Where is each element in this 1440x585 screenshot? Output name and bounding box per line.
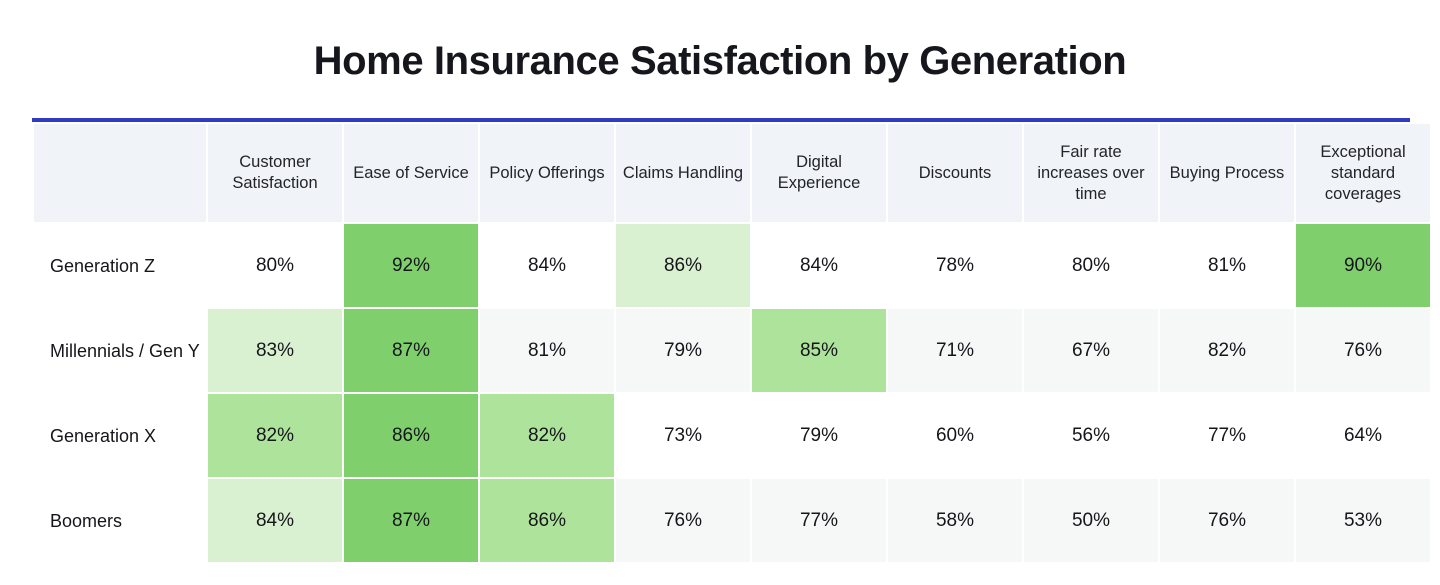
column-header-buying-process: Buying Process [1160,124,1294,222]
cell-boomers-ease-of-service: 87% [344,479,478,562]
cell-genz-discounts: 78% [888,224,1022,307]
cell-genz-policy-offerings: 84% [480,224,614,307]
cell-millennials-buying-process: 82% [1160,309,1294,392]
column-header-ease-of-service: Ease of Service [344,124,478,222]
cell-genz-digital-experience: 84% [752,224,886,307]
cell-boomers-discounts: 58% [888,479,1022,562]
cell-millennials-discounts: 71% [888,309,1022,392]
column-header-exceptional-standard-coverages: Exceptional standard coverages [1296,124,1430,222]
cell-genz-fair-rate-increases: 80% [1024,224,1158,307]
table-row: Generation X 82% 86% 82% 73% 79% 60% 56%… [34,394,1430,477]
cell-millennials-policy-offerings: 81% [480,309,614,392]
chart-page: Home Insurance Satisfaction by Generatio… [0,0,1440,585]
cell-boomers-customer-satisfaction: 84% [208,479,342,562]
row-label-millennials-gen-y: Millennials / Gen Y [34,309,206,392]
satisfaction-heatmap-table: Customer Satisfaction Ease of Service Po… [32,122,1432,564]
column-header-customer-satisfaction: Customer Satisfaction [208,124,342,222]
row-label-boomers: Boomers [34,479,206,562]
cell-genx-exceptional-standard-coverages: 64% [1296,394,1430,477]
cell-genx-fair-rate-increases: 56% [1024,394,1158,477]
cell-genz-customer-satisfaction: 80% [208,224,342,307]
heatmap-table-wrapper: Customer Satisfaction Ease of Service Po… [32,118,1410,564]
cell-boomers-buying-process: 76% [1160,479,1294,562]
cell-genz-buying-process: 81% [1160,224,1294,307]
cell-millennials-exceptional-standard-coverages: 76% [1296,309,1430,392]
row-label-generation-z: Generation Z [34,224,206,307]
column-header-discounts: Discounts [888,124,1022,222]
cell-genx-discounts: 60% [888,394,1022,477]
table-row: Boomers 84% 87% 86% 76% 77% 58% 50% 76% … [34,479,1430,562]
cell-millennials-digital-experience: 85% [752,309,886,392]
page-title: Home Insurance Satisfaction by Generatio… [0,36,1440,86]
cell-genz-exceptional-standard-coverages: 90% [1296,224,1430,307]
cell-genz-claims-handling: 86% [616,224,750,307]
table-row: Generation Z 80% 92% 84% 86% 84% 78% 80%… [34,224,1430,307]
cell-millennials-ease-of-service: 87% [344,309,478,392]
table-row: Millennials / Gen Y 83% 87% 81% 79% 85% … [34,309,1430,392]
cell-genx-customer-satisfaction: 82% [208,394,342,477]
cell-boomers-policy-offerings: 86% [480,479,614,562]
cell-boomers-fair-rate-increases: 50% [1024,479,1158,562]
cell-genx-ease-of-service: 86% [344,394,478,477]
cell-genx-claims-handling: 73% [616,394,750,477]
row-label-generation-x: Generation X [34,394,206,477]
table-header: Customer Satisfaction Ease of Service Po… [34,124,1430,222]
column-header-digital-experience: Digital Experience [752,124,886,222]
cell-millennials-fair-rate-increases: 67% [1024,309,1158,392]
cell-genx-policy-offerings: 82% [480,394,614,477]
cell-millennials-customer-satisfaction: 83% [208,309,342,392]
header-corner-cell [34,124,206,222]
cell-boomers-digital-experience: 77% [752,479,886,562]
cell-boomers-exceptional-standard-coverages: 53% [1296,479,1430,562]
cell-genx-buying-process: 77% [1160,394,1294,477]
table-body: Generation Z 80% 92% 84% 86% 84% 78% 80%… [34,224,1430,562]
column-header-fair-rate-increases-over-time: Fair rate increases over time [1024,124,1158,222]
cell-millennials-claims-handling: 79% [616,309,750,392]
cell-boomers-claims-handling: 76% [616,479,750,562]
cell-genx-digital-experience: 79% [752,394,886,477]
column-header-policy-offerings: Policy Offerings [480,124,614,222]
cell-genz-ease-of-service: 92% [344,224,478,307]
header-row: Customer Satisfaction Ease of Service Po… [34,124,1430,222]
column-header-claims-handling: Claims Handling [616,124,750,222]
